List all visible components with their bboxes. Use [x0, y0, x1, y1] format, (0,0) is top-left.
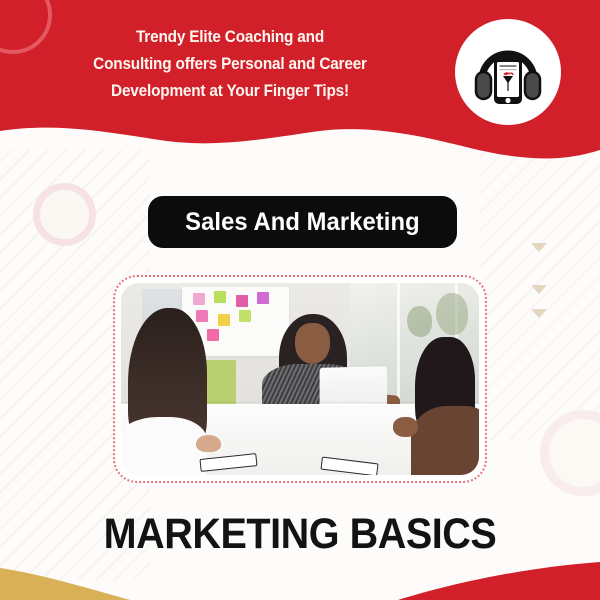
pink-ring-right-icon	[540, 410, 600, 496]
red-wave	[398, 562, 600, 600]
triangle-2-icon	[531, 285, 547, 294]
brand-logo-badge	[455, 19, 561, 125]
headphones-smartphone-logo-icon	[470, 34, 546, 110]
meeting-photo	[121, 283, 479, 475]
triangle-1-icon	[531, 243, 547, 252]
triangle-3-icon	[531, 309, 547, 318]
triangle-decor-group	[531, 243, 551, 333]
footer-waves	[0, 540, 600, 600]
promo-poster: Trendy Elite Coaching and Consulting off…	[0, 0, 600, 600]
headline-line-3: Development at Your Finger Tips!	[48, 78, 413, 105]
banner-label: Sales And Marketing	[185, 208, 420, 237]
headline: Trendy Elite Coaching and Consulting off…	[48, 24, 413, 105]
meeting-scene-illustration	[121, 283, 479, 475]
headline-line-2: Consulting offers Personal and Career	[48, 51, 413, 78]
sales-and-marketing-banner[interactable]: Sales And Marketing	[148, 196, 457, 248]
pink-ring-left-icon	[33, 183, 96, 246]
headline-line-1: Trendy Elite Coaching and	[48, 24, 413, 51]
gold-wave	[0, 568, 130, 600]
photo-dotted-frame	[113, 275, 487, 483]
